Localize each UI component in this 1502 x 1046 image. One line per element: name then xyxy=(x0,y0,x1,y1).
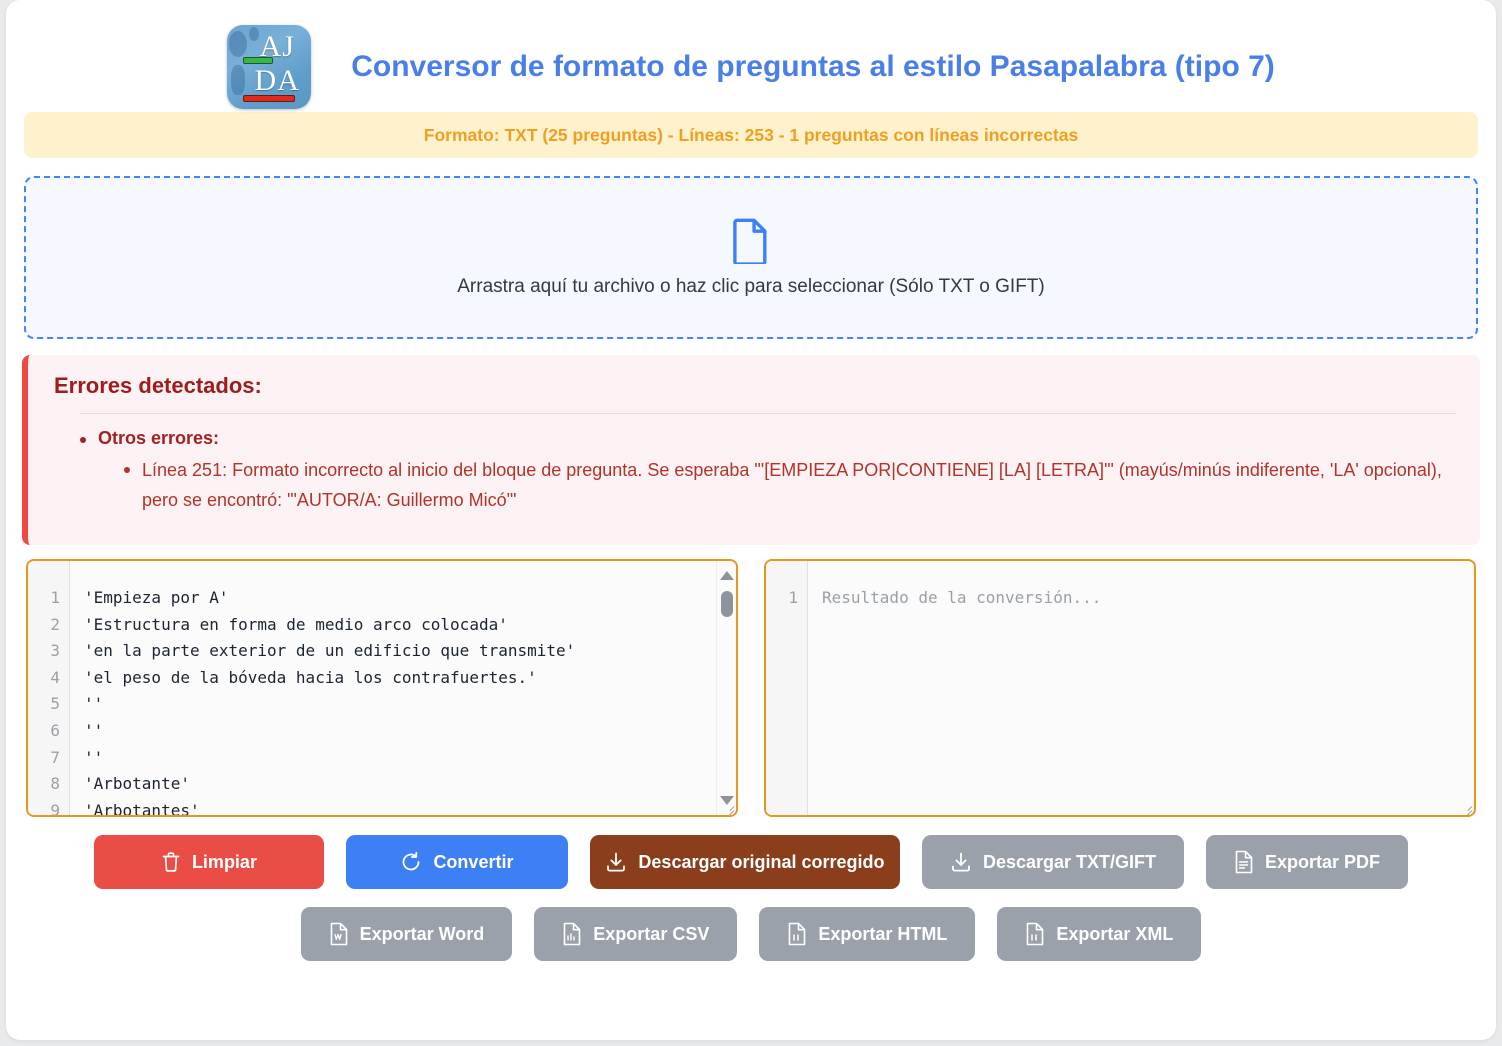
input-resize-handle[interactable] xyxy=(722,802,734,814)
exportar-xml-button[interactable]: Exportar XML xyxy=(997,907,1201,961)
error-item: Línea 251: Formato incorrecto al inicio … xyxy=(124,455,1456,515)
code-line: 'Empieza por A' xyxy=(84,585,736,612)
ajda-logo: AJ DA xyxy=(227,25,311,109)
scroll-up-icon[interactable] xyxy=(720,571,734,580)
file-pdf-icon xyxy=(1234,850,1254,874)
convertir-button[interactable]: Convertir xyxy=(346,835,568,889)
line-number: 1 xyxy=(28,585,69,612)
output-textarea[interactable]: Resultado de la conversión... xyxy=(808,561,1474,815)
descargar-txt-gift-button[interactable]: Descargar TXT/GIFT xyxy=(922,835,1184,889)
input-textarea[interactable]: 'Empieza por A' 'Estructura en forma de … xyxy=(70,561,736,815)
descargar-txt-gift-label: Descargar TXT/GIFT xyxy=(983,852,1156,873)
errors-divider xyxy=(80,413,1456,414)
line-number: 4 xyxy=(28,665,69,692)
output-editor[interactable]: 1 Resultado de la conversión... xyxy=(764,559,1476,817)
descargar-original-corregido-button[interactable]: Descargar original corregido xyxy=(590,835,900,889)
exportar-xml-label: Exportar XML xyxy=(1056,924,1173,945)
download-icon xyxy=(605,851,627,873)
line-number: 3 xyxy=(28,638,69,665)
input-editor[interactable]: 1 2 3 4 5 6 7 8 9 'Empieza por A' 'Estru… xyxy=(26,559,738,817)
code-line: 'Arbotante' xyxy=(84,771,736,798)
line-number: 7 xyxy=(28,745,69,772)
file-csv-icon xyxy=(562,922,582,946)
limpiar-button[interactable]: Limpiar xyxy=(94,835,324,889)
export-button-row: Exportar Word Exportar CSV xyxy=(6,907,1496,961)
input-line-numbers: 1 2 3 4 5 6 7 8 9 xyxy=(28,561,70,815)
code-line: '' xyxy=(84,691,736,718)
primary-button-row: Limpiar Convertir Desc xyxy=(6,835,1496,889)
logo-green-bar xyxy=(243,57,273,64)
file-xml-icon xyxy=(1025,922,1045,946)
dropzone-label: Arrastra aquí tu archivo o haz clic para… xyxy=(457,276,1044,298)
code-line: '' xyxy=(84,745,736,772)
file-dropzone[interactable]: Arrastra aquí tu archivo o haz clic para… xyxy=(24,176,1478,339)
limpiar-label: Limpiar xyxy=(192,852,257,873)
line-number: 9 xyxy=(28,798,69,817)
code-line: 'Arbotantes' xyxy=(84,798,736,815)
logo-text-bottom: DA xyxy=(227,65,311,97)
errors-panel: Errores detectados: Otros errores: Línea… xyxy=(22,355,1480,545)
format-info-banner: Formato: TXT (25 preguntas) - Líneas: 25… xyxy=(24,112,1478,158)
exportar-csv-label: Exportar CSV xyxy=(593,924,709,945)
input-scrollbar[interactable] xyxy=(716,561,736,815)
convertir-label: Convertir xyxy=(433,852,513,873)
file-html-icon xyxy=(787,922,807,946)
errors-group-label: Otros errores: xyxy=(98,428,219,448)
errors-group-list: Otros errores: Línea 251: Formato incorr… xyxy=(54,428,1456,515)
output-resize-handle[interactable] xyxy=(1460,802,1472,814)
exportar-pdf-button[interactable]: Exportar PDF xyxy=(1206,835,1408,889)
editors-row: 1 2 3 4 5 6 7 8 9 'Empieza por A' 'Estru… xyxy=(26,559,1476,817)
code-line: '' xyxy=(84,718,736,745)
trash-icon xyxy=(161,851,181,873)
exportar-word-button[interactable]: Exportar Word xyxy=(301,907,513,961)
descargar-original-label: Descargar original corregido xyxy=(638,852,884,873)
line-number: 6 xyxy=(28,718,69,745)
file-document-icon xyxy=(732,218,770,264)
exportar-html-label: Exportar HTML xyxy=(818,924,947,945)
code-line: 'el peso de la bóveda hacia los contrafu… xyxy=(84,665,736,692)
refresh-icon xyxy=(400,851,422,873)
app-card: AJ DA Conversor de formato de preguntas … xyxy=(6,0,1496,1040)
line-number: 1 xyxy=(766,585,807,612)
line-number: 2 xyxy=(28,612,69,639)
scrollbar-thumb[interactable] xyxy=(721,591,733,617)
errors-group: Otros errores: Línea 251: Formato incorr… xyxy=(80,428,1456,515)
format-info-text: Formato: TXT (25 preguntas) - Líneas: 25… xyxy=(424,125,1078,146)
line-number: 5 xyxy=(28,691,69,718)
errors-heading: Errores detectados: xyxy=(54,373,1456,399)
code-line: 'en la parte exterior de un edificio que… xyxy=(84,638,736,665)
exportar-pdf-label: Exportar PDF xyxy=(1265,852,1380,873)
errors-item-list: Línea 251: Formato incorrecto al inicio … xyxy=(98,455,1456,515)
exportar-html-button[interactable]: Exportar HTML xyxy=(759,907,975,961)
download-icon xyxy=(950,851,972,873)
file-word-icon xyxy=(329,922,349,946)
page-title: Conversor de formato de preguntas al est… xyxy=(351,50,1275,84)
line-number: 8 xyxy=(28,771,69,798)
output-placeholder: Resultado de la conversión... xyxy=(822,585,1474,612)
logo-red-bar xyxy=(243,95,295,102)
output-line-numbers: 1 xyxy=(766,561,808,815)
exportar-csv-button[interactable]: Exportar CSV xyxy=(534,907,737,961)
app-header: AJ DA Conversor de formato de preguntas … xyxy=(6,0,1496,112)
exportar-word-label: Exportar Word xyxy=(360,924,485,945)
page-root: AJ DA Conversor de formato de preguntas … xyxy=(0,0,1502,1046)
code-line: 'Estructura en forma de medio arco coloc… xyxy=(84,612,736,639)
